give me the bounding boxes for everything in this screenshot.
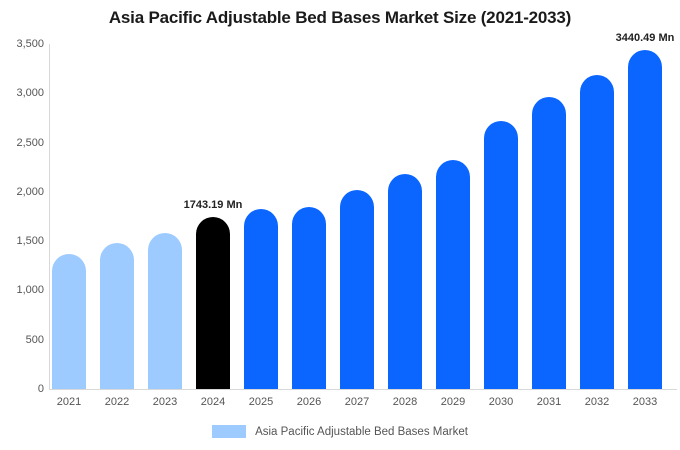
bar-2032[interactable]: [580, 75, 614, 389]
bar-slot: [388, 44, 422, 389]
bar-2033[interactable]: [628, 50, 662, 389]
x-axis-line: [49, 389, 677, 390]
bar-2025[interactable]: [244, 209, 278, 389]
x-axis-tick-label-2030: 2030: [477, 396, 525, 408]
y-axis-tick-label: 2,000: [0, 186, 44, 198]
bar-slot: [100, 44, 134, 389]
x-axis-tick-label-2024: 2024: [189, 396, 237, 408]
x-axis-tick-label-2031: 2031: [525, 396, 573, 408]
y-axis-tick-label: 3,000: [0, 87, 44, 99]
bar-slot: [484, 44, 518, 389]
plot-area: [50, 44, 676, 389]
x-axis-tick-label-2032: 2032: [573, 396, 621, 408]
y-axis-tick-label: 500: [0, 334, 44, 346]
bar-2027[interactable]: [340, 190, 374, 389]
y-axis-tick-label: 1,000: [0, 284, 44, 296]
bar-slot: [532, 44, 566, 389]
bar-2021[interactable]: [52, 254, 86, 389]
y-axis-tick-label: 3,500: [0, 38, 44, 50]
chart-legend: Asia Pacific Adjustable Bed Bases Market: [0, 425, 680, 438]
chart-title: Asia Pacific Adjustable Bed Bases Market…: [0, 8, 680, 28]
y-axis-tick-label: 0: [0, 383, 44, 395]
bar-slot: [292, 44, 326, 389]
x-axis-tick-label-2023: 2023: [141, 396, 189, 408]
bar-value-label-2024: 1743.19 Mn: [184, 199, 243, 211]
x-axis-tick-label-2021: 2021: [45, 396, 93, 408]
bar-2029[interactable]: [436, 160, 470, 389]
y-axis-tick-labels: 3,5003,0002,5002,0001,5001,0005000: [0, 0, 44, 450]
bar-slot: [580, 44, 614, 389]
x-axis-tick-label-2022: 2022: [93, 396, 141, 408]
bar-slot: [196, 44, 230, 389]
x-axis-tick-label-2028: 2028: [381, 396, 429, 408]
bar-slot: [340, 44, 374, 389]
y-axis-tick-label: 1,500: [0, 235, 44, 247]
x-axis-tick-label-2026: 2026: [285, 396, 333, 408]
bar-2023[interactable]: [148, 233, 182, 389]
y-axis-tick-label: 2,500: [0, 137, 44, 149]
bar-slot: [436, 44, 470, 389]
bar-slot: [244, 44, 278, 389]
legend-label-asia-pacific: Asia Pacific Adjustable Bed Bases Market: [255, 426, 468, 438]
bar-2026[interactable]: [292, 207, 326, 389]
bar-2030[interactable]: [484, 121, 518, 389]
bar-slot: [52, 44, 86, 389]
bar-2022[interactable]: [100, 243, 134, 389]
x-axis-tick-label-2029: 2029: [429, 396, 477, 408]
legend-swatch-asia-pacific: [212, 425, 246, 438]
bar-slot: [148, 44, 182, 389]
bar-2024[interactable]: [196, 217, 230, 389]
bar-chart: Asia Pacific Adjustable Bed Bases Market…: [0, 0, 680, 450]
bar-value-label-2033: 3440.49 Mn: [616, 32, 675, 44]
x-axis-tick-label-2025: 2025: [237, 396, 285, 408]
bar-slot: [628, 44, 662, 389]
bar-2031[interactable]: [532, 97, 566, 389]
x-axis-tick-label-2027: 2027: [333, 396, 381, 408]
x-axis-tick-label-2033: 2033: [621, 396, 669, 408]
bar-2028[interactable]: [388, 174, 422, 389]
